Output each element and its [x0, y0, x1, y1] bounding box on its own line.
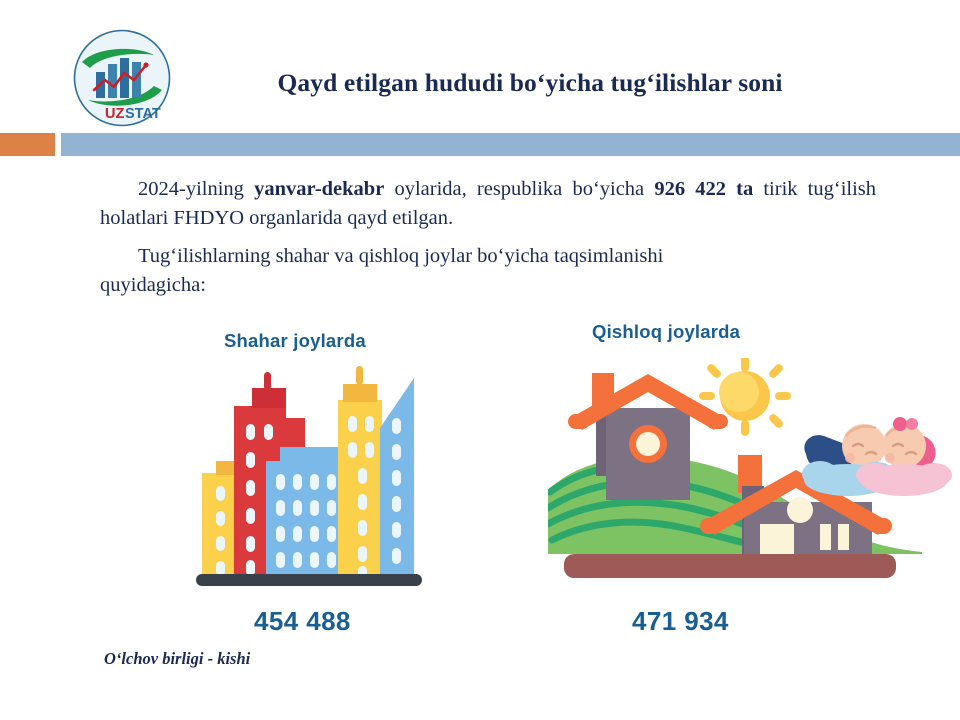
panel-label-rural: Qishloq joylarda [592, 321, 740, 343]
panel-value-urban: 454 488 [254, 606, 351, 637]
panel-label-urban: Shahar joylarda [224, 330, 366, 352]
slide-canvas: UZ STAT Qayd etilgan hududi bo‘yicha tug… [0, 0, 960, 720]
unit-footnote: O‘lchov birligi - kishi [104, 649, 250, 669]
village-houses-icon [548, 358, 952, 590]
paragraph-total-births: 2024-yilning yanvar-dekabr oylarida, res… [100, 175, 876, 233]
cityscape-icon [188, 358, 428, 590]
panel-value-rural: 471 934 [632, 606, 729, 637]
header-divider-band [61, 133, 960, 156]
para2-line2: quyidagicha: [100, 271, 876, 300]
uzstat-logo: UZ STAT [72, 28, 172, 128]
logo-text-stat: STAT [125, 106, 161, 122]
page-title: Qayd etilgan hududi bo‘yicha tug‘ilishla… [180, 68, 880, 98]
para1-bold-count: 926 422 ta [654, 178, 753, 200]
para1-bold-period: yanvar-dekabr [254, 178, 384, 200]
para1-part1: 2024-yilning [138, 178, 254, 200]
para2-line1: Tug‘ilishlarning shahar va qishloq joyla… [138, 245, 663, 267]
paragraph-distribution: Tug‘ilishlarning shahar va qishloq joyla… [100, 242, 876, 300]
header-accent-block [0, 133, 55, 156]
para1-part2: oylarida, respublika bo‘yicha [384, 178, 654, 200]
logo-text-uz: UZ [105, 106, 124, 122]
